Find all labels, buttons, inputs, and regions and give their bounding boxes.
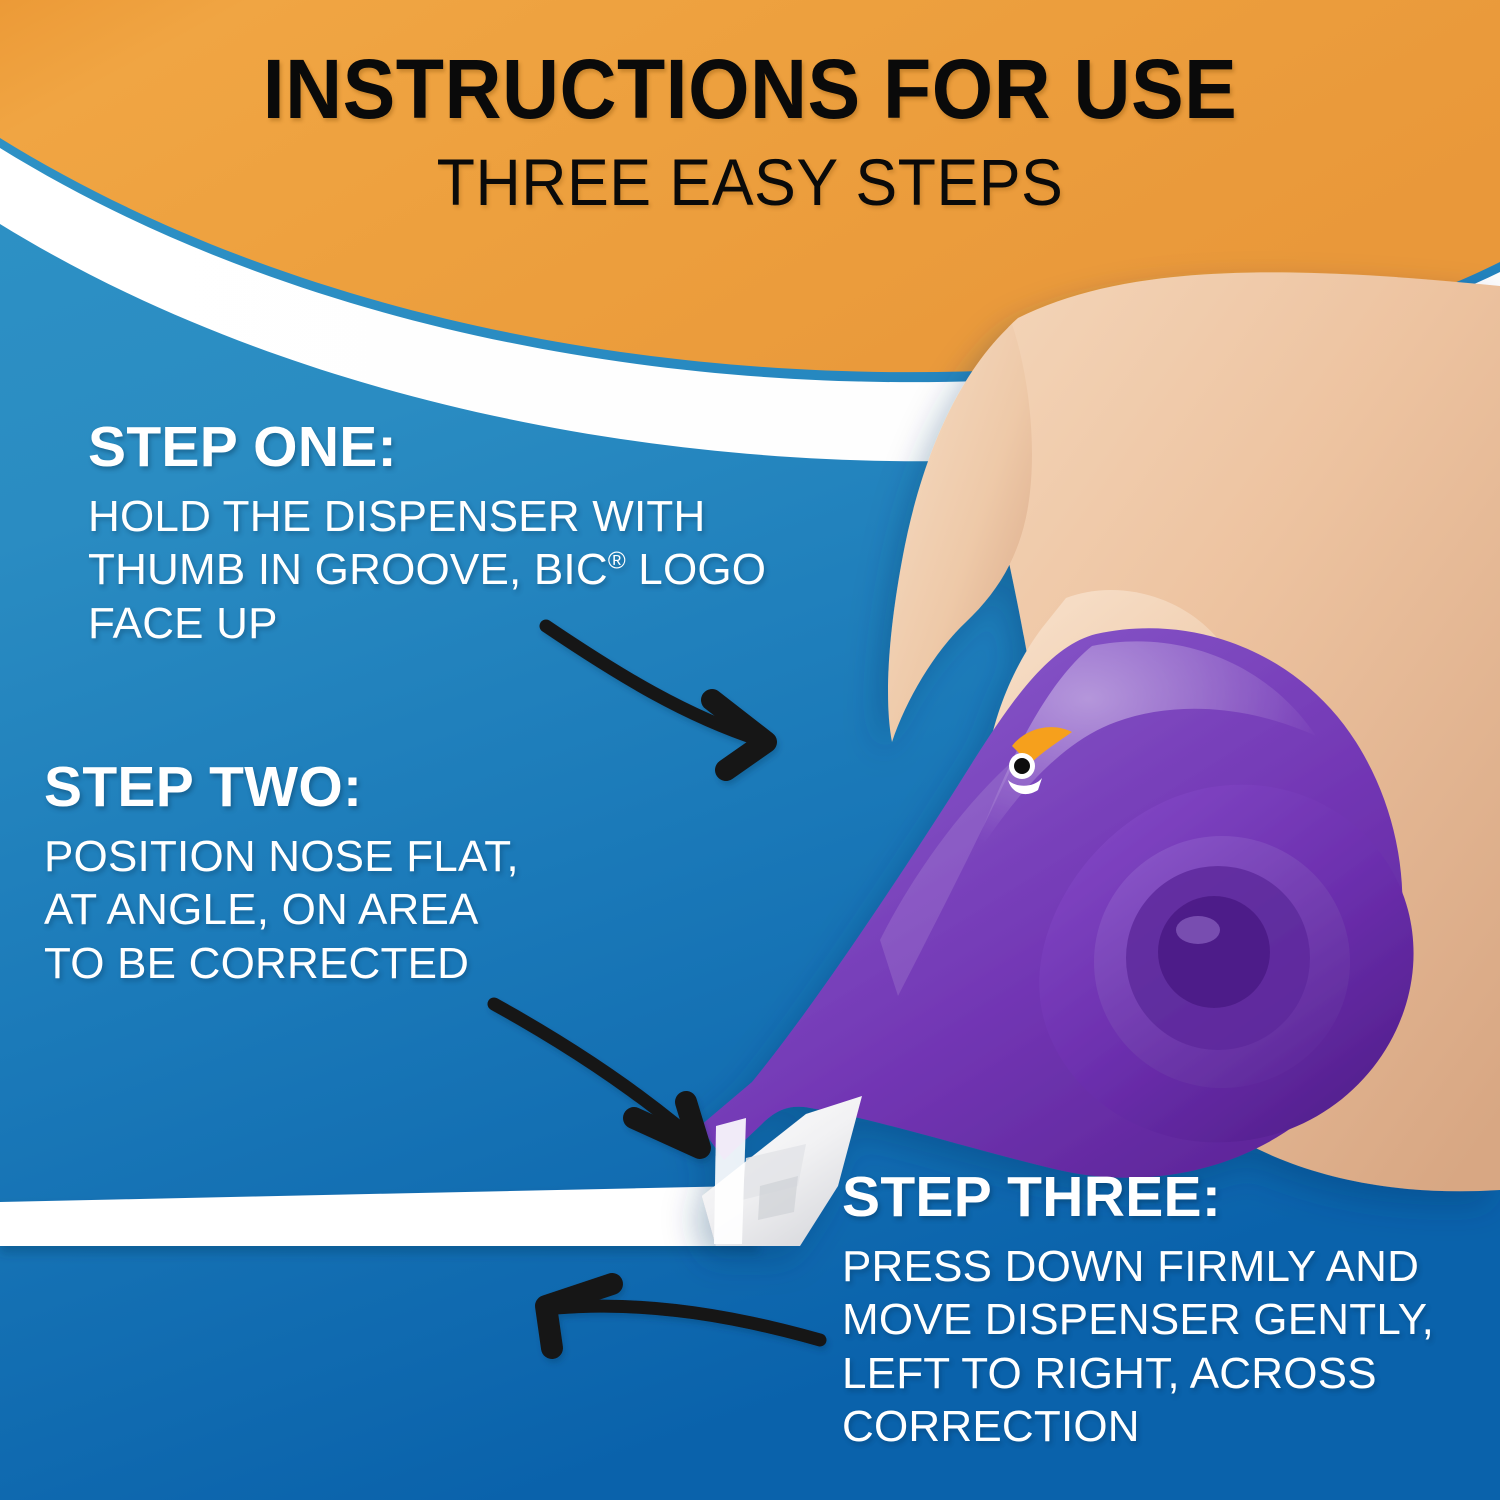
dispenser-reel-hub-highlight bbox=[1176, 916, 1220, 944]
product-photo-hand-holding-dispenser bbox=[0, 0, 1500, 1500]
instructions-poster: INSTRUCTIONS FOR USE THREE EASY STEPS ST… bbox=[0, 0, 1500, 1500]
hand-index-finger bbox=[888, 324, 1032, 742]
dispenser-reel-hub bbox=[1158, 896, 1270, 1008]
dispenser-tip-edge bbox=[714, 1118, 746, 1244]
